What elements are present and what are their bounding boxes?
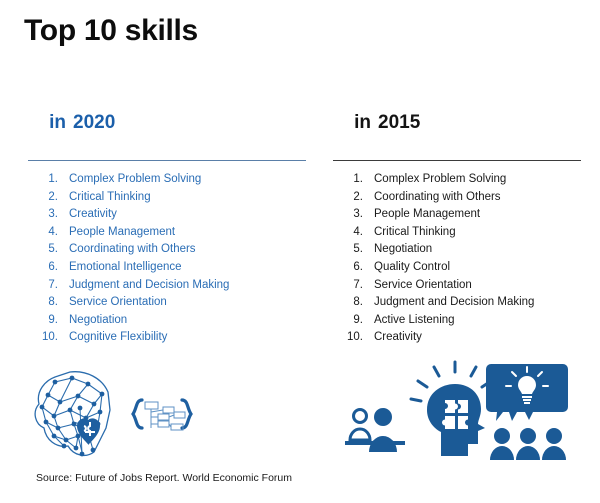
lightbulb-speech-bubble-audience-icon xyxy=(486,364,568,460)
skill-label: Service Orientation xyxy=(69,294,167,312)
skill-label: Emotional Intelligence xyxy=(69,259,182,277)
list-item: 6.Emotional Intelligence xyxy=(28,259,306,277)
skills-column-2020: in2020 1.Complex Problem Solving 2.Criti… xyxy=(28,90,306,347)
skill-rank: 2. xyxy=(28,189,69,207)
list-item: 1.Complex Problem Solving xyxy=(333,171,581,189)
skill-label: People Management xyxy=(374,206,480,224)
illustration-left xyxy=(30,362,195,467)
skill-label: Creativity xyxy=(374,329,422,347)
list-item: 7.Service Orientation xyxy=(333,277,581,295)
skill-label: Cognitive Flexibility xyxy=(69,329,167,347)
column-heading-in-word: in xyxy=(49,112,66,133)
skill-label: Complex Problem Solving xyxy=(374,171,506,189)
skill-rank: 1. xyxy=(333,171,374,189)
list-item: 9.Negotiation xyxy=(28,312,306,330)
code-brackets-flowchart-icon xyxy=(133,400,191,430)
page-title: Top 10 skills xyxy=(24,14,198,48)
illustration-right xyxy=(345,360,570,468)
skill-label: Creativity xyxy=(69,206,117,224)
column-heading-year: 2020 xyxy=(73,112,115,133)
skill-rank: 3. xyxy=(28,206,69,224)
list-item: 10.Creativity xyxy=(333,329,581,347)
list-item: 5.Negotiation xyxy=(333,241,581,259)
list-item: 3.Creativity xyxy=(28,206,306,224)
skill-rank: 8. xyxy=(28,294,69,312)
skill-rank: 8. xyxy=(333,294,374,312)
list-item: 10.Cognitive Flexibility xyxy=(28,329,306,347)
list-item: 6.Quality Control xyxy=(333,259,581,277)
skill-label: Judgment and Decision Making xyxy=(69,277,229,295)
list-item: 2.Coordinating with Others xyxy=(333,189,581,207)
skill-rank: 5. xyxy=(333,241,374,259)
skill-label: Critical Thinking xyxy=(69,189,151,207)
list-item: 8.Judgment and Decision Making xyxy=(333,294,581,312)
skill-list-2020: 1.Complex Problem Solving 2.Critical Thi… xyxy=(28,171,306,347)
skill-label: Quality Control xyxy=(374,259,450,277)
skill-rank: 9. xyxy=(333,312,374,330)
skill-label: Active Listening xyxy=(374,312,455,330)
skill-rank: 10. xyxy=(28,329,69,347)
list-item: 4.People Management xyxy=(28,224,306,242)
skill-rank: 7. xyxy=(28,277,69,295)
skill-rank: 6. xyxy=(28,259,69,277)
list-item: 9.Active Listening xyxy=(333,312,581,330)
skill-rank: 4. xyxy=(28,224,69,242)
skill-label: Coordinating with Others xyxy=(374,189,501,207)
list-item: 1.Complex Problem Solving xyxy=(28,171,306,189)
list-item: 2.Critical Thinking xyxy=(28,189,306,207)
skill-label: Critical Thinking xyxy=(374,224,456,242)
column-divider-2020 xyxy=(28,160,306,161)
skill-label: Negotiation xyxy=(69,312,127,330)
skill-label: People Management xyxy=(69,224,175,242)
skill-rank: 1. xyxy=(28,171,69,189)
skill-label: Judgment and Decision Making xyxy=(374,294,534,312)
column-heading-2015: in2015 xyxy=(333,90,581,159)
two-people-icon xyxy=(345,408,405,452)
list-item: 4.Critical Thinking xyxy=(333,224,581,242)
list-item: 5.Coordinating with Others xyxy=(28,241,306,259)
skill-rank: 4. xyxy=(333,224,374,242)
skills-column-2015: in2015 1.Complex Problem Solving 2.Coord… xyxy=(333,90,581,347)
column-heading-2020: in2020 xyxy=(28,90,306,159)
head-puzzle-idea-icon xyxy=(411,362,491,456)
list-item: 8.Service Orientation xyxy=(28,294,306,312)
column-divider-2015 xyxy=(333,160,581,161)
skill-rank: 10. xyxy=(333,329,374,347)
skill-label: Coordinating with Others xyxy=(69,241,196,259)
skill-list-2015: 1.Complex Problem Solving 2.Coordinating… xyxy=(333,171,581,347)
skill-label: Complex Problem Solving xyxy=(69,171,201,189)
skill-rank: 9. xyxy=(28,312,69,330)
skill-label: Negotiation xyxy=(374,241,432,259)
source-note: Source: Future of Jobs Report. World Eco… xyxy=(36,472,292,484)
column-heading-year: 2015 xyxy=(378,112,420,133)
list-item: 3.People Management xyxy=(333,206,581,224)
skill-rank: 7. xyxy=(333,277,374,295)
skill-rank: 3. xyxy=(333,206,374,224)
skill-rank: 2. xyxy=(333,189,374,207)
skill-rank: 5. xyxy=(28,241,69,259)
column-heading-in-word: in xyxy=(354,112,371,133)
skill-rank: 6. xyxy=(333,259,374,277)
skill-label: Service Orientation xyxy=(374,277,472,295)
list-item: 7.Judgment and Decision Making xyxy=(28,277,306,295)
heart-puzzle-icon xyxy=(77,418,100,445)
